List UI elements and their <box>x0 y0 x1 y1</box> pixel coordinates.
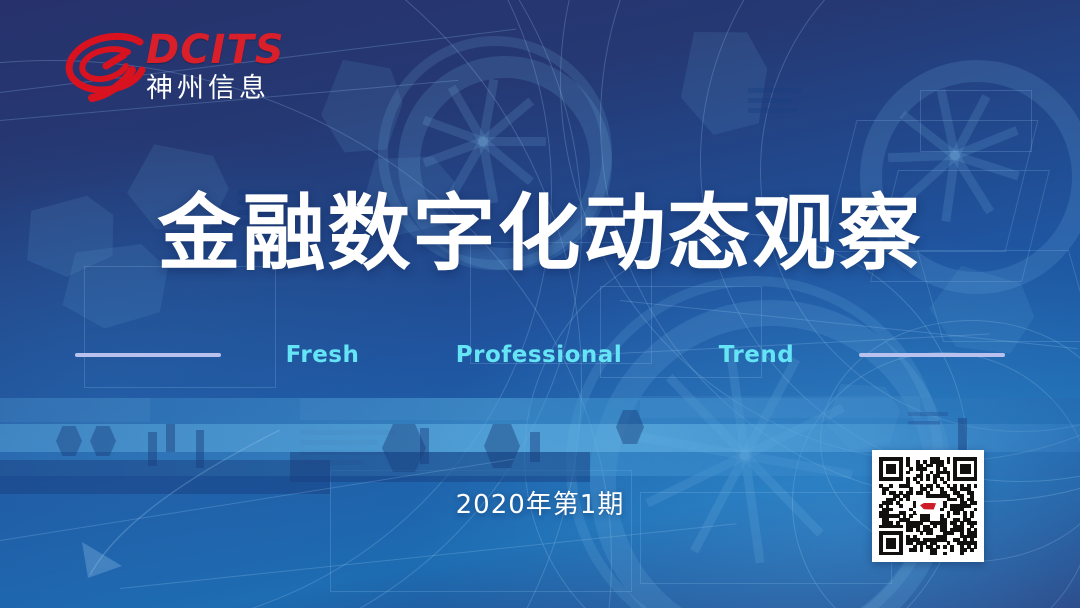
decorative-circuit-stack <box>908 412 948 430</box>
decorative-plate <box>0 398 150 422</box>
decorative-hex-chip <box>616 410 644 444</box>
decorative-hex-chip <box>90 426 116 456</box>
decorative-hex-chip <box>484 424 520 468</box>
decorative-circuit-stack <box>300 430 396 470</box>
tagline-left-rule <box>75 353 221 357</box>
brand-name-cn: 神州信息 <box>146 73 285 105</box>
qr-code-matrix <box>879 457 977 555</box>
qr-center-logo <box>916 498 940 514</box>
slide-canvas: DCITS 神州信息 金融数字化动态观察 Fresh Professional … <box>0 0 1080 608</box>
brand-logo: DCITS 神州信息 <box>62 28 332 110</box>
decorative-plate <box>640 396 920 418</box>
decorative-arc <box>0 60 612 608</box>
decorative-blob <box>826 384 900 450</box>
decorative-circuit-stack <box>748 88 802 118</box>
decorative-bar-chip <box>166 424 175 452</box>
decorative-bar-chip <box>530 432 540 462</box>
decorative-bar-chip <box>148 432 157 466</box>
decorative-bar-chip <box>196 430 204 468</box>
tagline-word-trend: Trend <box>654 342 859 368</box>
brand-name-en: DCITS <box>146 28 285 72</box>
decorative-plate <box>290 452 590 482</box>
tagline-right-rule <box>859 353 1005 357</box>
decorative-plate <box>300 398 530 420</box>
tagline-words: Fresh Professional Trend <box>221 342 859 368</box>
decorative-wireframe <box>920 90 1032 152</box>
page-title: 金融数字化动态观察 <box>0 186 1080 282</box>
decorative-shard <box>676 27 771 137</box>
tagline-word-professional: Professional <box>424 342 654 368</box>
decorative-wire <box>120 523 737 589</box>
dcits-swirl-logo-mark <box>62 32 148 104</box>
decorative-emblem-spokes <box>636 346 854 564</box>
qr-code[interactable] <box>872 450 984 562</box>
tagline-word-fresh: Fresh <box>221 342 424 368</box>
tagline-row: Fresh Professional Trend <box>0 338 1080 372</box>
decorative-band <box>0 424 1080 452</box>
decorative-bar-chip <box>420 428 429 464</box>
decorative-hex-chip <box>382 424 426 472</box>
decorative-hex-chip <box>56 426 82 456</box>
